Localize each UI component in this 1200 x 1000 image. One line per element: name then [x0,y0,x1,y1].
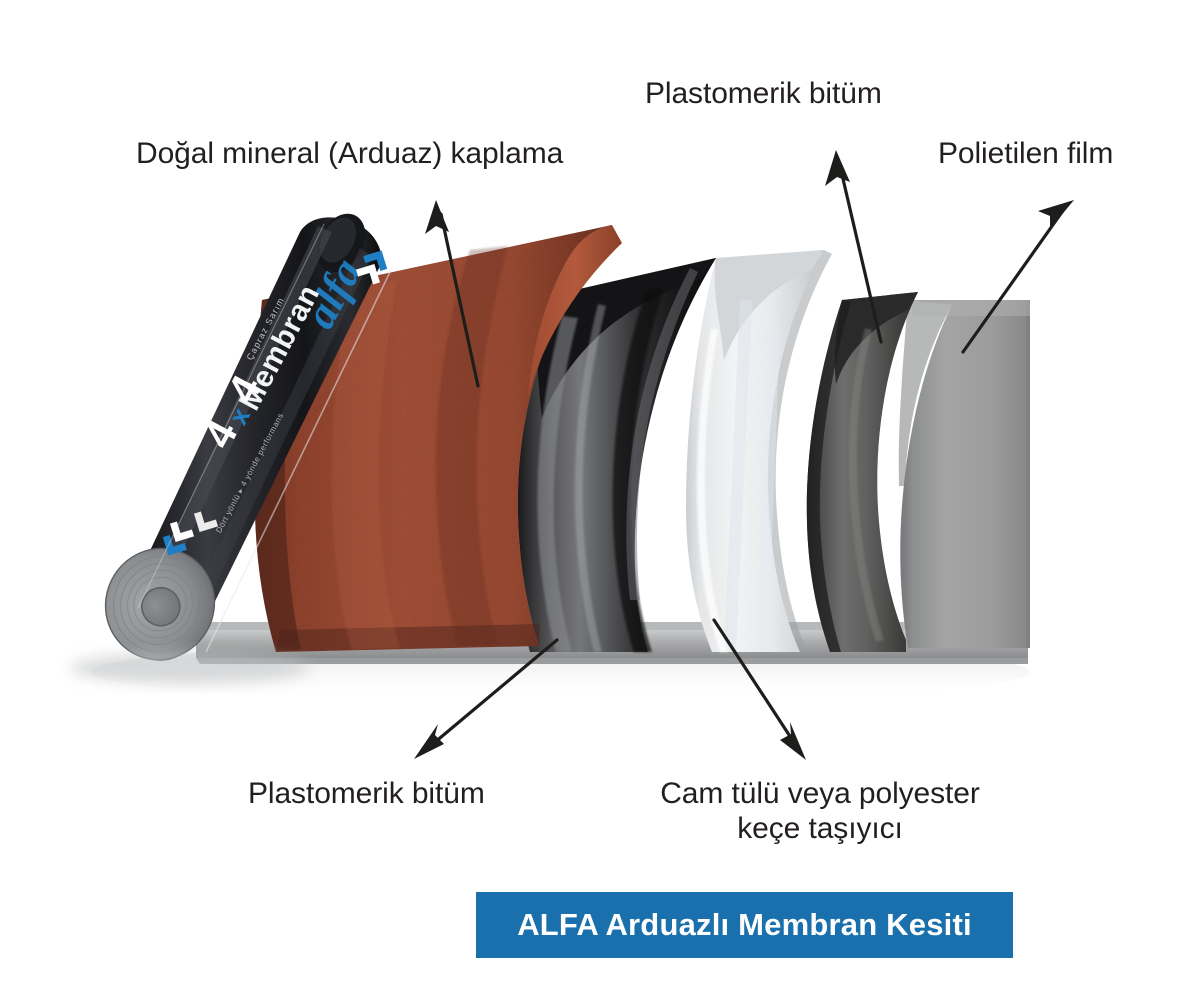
callout-label-plastomerik-bitum-top: Plastomerik bitüm [645,76,882,111]
caption-bar: ALFA Arduazlı Membran Kesiti [476,892,1013,958]
caption-text: ALFA Arduazlı Membran Kesiti [517,907,972,943]
callout-label-cam-tulu-line2: keçe taşıyıcı [737,812,902,845]
callout-label-plastomerik-bitum-bottom: Plastomerik bitüm [248,776,485,811]
callout-label-polietilen-film: Polietilen film [938,136,1113,171]
callout-label-cam-tulu: Cam tülü veya polyester keçe taşıyıcı [620,776,1020,846]
callout-label-cam-tulu-line1: Cam tülü veya polyester [660,777,980,810]
figure-canvas: alfa Membran Çapraz Sarım 4 x 4 Dört yön… [0,0,1200,1000]
callout-label-dogal-mineral: Doğal mineral (Arduaz) kaplama [136,136,563,171]
